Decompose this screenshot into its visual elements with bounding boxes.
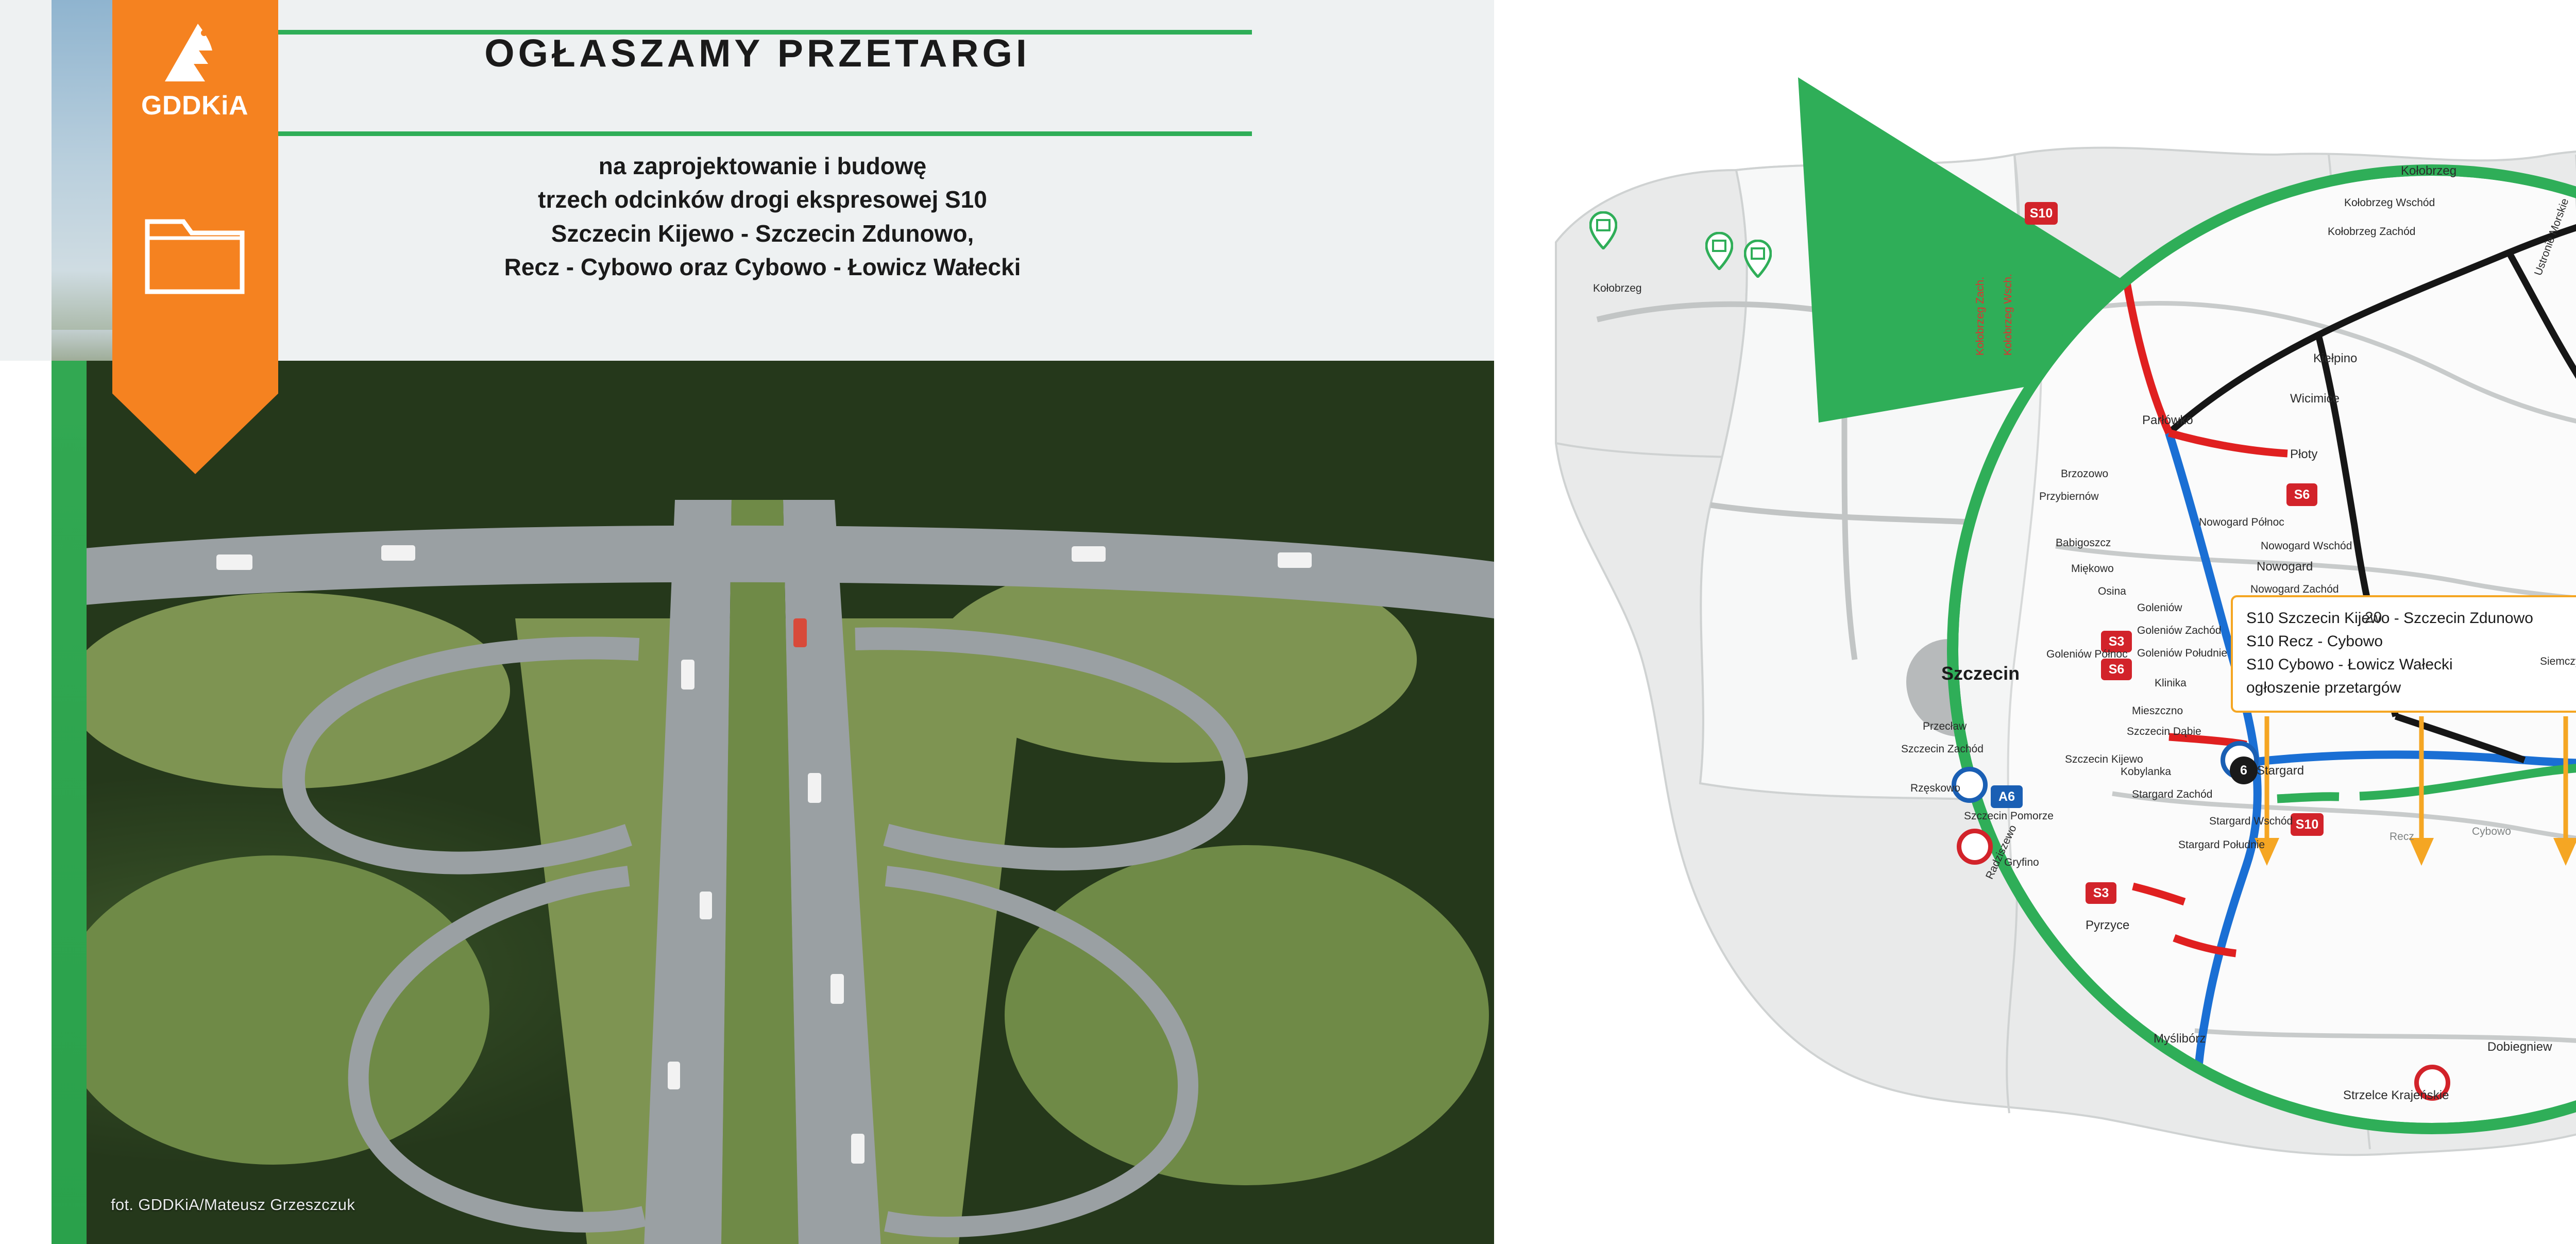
photo-credit: fot. GDDKiA/Mateusz Grzeszczuk (111, 1196, 355, 1214)
top-left-white (0, 0, 52, 361)
highway-interchange-photo (52, 330, 1494, 1244)
label-dobiegniew: Dobiegniew (2487, 1040, 2552, 1054)
gddkia-brand-text: GDDKiA (117, 90, 272, 121)
page-title: OGŁASZAMY PRZETARGI (216, 31, 1298, 75)
label-szczecin-dabie: Szczecin Dąbie (2127, 726, 2201, 738)
label-rzeskowo: Rzęskowo (1910, 782, 1960, 795)
label-przybiernow: Przybiernów (2039, 491, 2099, 503)
label-szczecin-zachod: Szczecin Zachód (1901, 743, 1984, 755)
callout-line-3: S10 Cybowo - Łowicz Wałecki (2246, 653, 2576, 676)
left-promo-panel: fot. GDDKiA/Mateusz Grzeszczuk OGŁASZAMY… (0, 0, 1494, 1244)
header-inner: OGŁASZAMY PRZETARGI (216, 31, 1298, 87)
header-subtitle: na zaprojektowanie i budowę trzech odcin… (216, 149, 1309, 284)
header-subtitle-line-1: na zaprojektowanie i budowę (216, 149, 1309, 183)
label-goleniow-poludnie: Goleniów Południe (2137, 647, 2227, 660)
label-kolobrzeg-zach: Kołobrzeg Zach. (1974, 277, 1987, 356)
road-shield-s6[interactable]: S6 (2286, 483, 2317, 506)
label-kolobrzeg-wschod: Kołobrzeg Wschód (2344, 197, 2435, 209)
label-stargard-zachod: Stargard Zachód (2132, 788, 2212, 801)
road-shield-s10[interactable]: S10 (2291, 813, 2324, 836)
header-rule-bottom (227, 131, 1252, 136)
road-shield-a6[interactable]: A6 (1991, 785, 2023, 808)
label-babigoszcz: Babigoszcz (2056, 537, 2111, 549)
label-pyrzyce: Pyrzyce (2086, 918, 2129, 933)
label-siemczyno: Siemczyno (2540, 655, 2576, 668)
label-mieszczno: Mieszczno (2132, 705, 2183, 717)
label-stargard-wschod: Stargard Wschód (2209, 815, 2293, 828)
label-cybowo: Cybowo (2472, 826, 2511, 838)
label-nowogard-zachod: Nowogard Zachód (2250, 583, 2339, 596)
header-subtitle-line-4: Recz - Cybowo oraz Cybowo - Łowicz Wałec… (216, 250, 1309, 284)
left-white-bar (0, 361, 52, 1244)
callout-box: S10 Szczecin Kijewo - Szczecin Zdunowo S… (2231, 595, 2576, 713)
callout-line-4: ogłoszenie przetargów (2246, 676, 2576, 699)
label-brzozowo: Brzozowo (2061, 468, 2108, 480)
label-kliniska: Klinika (2155, 677, 2187, 690)
label-kolobrzeg-zachod: Kołobrzeg Zachód (2328, 226, 2415, 238)
label-goleniow-polnoc: Goleniów Północ (2046, 648, 2128, 661)
label-nowogard: Nowogard (2257, 560, 2313, 574)
label-przeclaw: Przecław (1923, 720, 1967, 733)
left-green-bar (52, 361, 87, 1244)
callout-line-1: S10 Szczecin Kijewo - Szczecin Zdunowo (2246, 607, 2576, 630)
gddkia-eagle-icon (155, 21, 237, 90)
label-goleniow-zachod: Goleniów Zachód (2137, 625, 2221, 637)
callout-arrows (2205, 711, 2576, 886)
label-kolobrzeg-wsch: Kołobrzeg Wsch. (2002, 274, 2014, 356)
label-stargard-poludnie: Stargard Południe (2178, 839, 2265, 851)
map-panel[interactable]: S10 Szczecin Kijewo - Szczecin Zdunowo S… (1494, 0, 2576, 1244)
label-kolobrzeg-small: Kołobrzeg (1593, 282, 1642, 295)
road-shield-s6[interactable]: S6 (2101, 659, 2132, 680)
label-gryfino: Gryfino (2004, 856, 2039, 869)
label-kobylanka: Kobylanka (2121, 766, 2171, 778)
label-mysliborz: Myślibórz (2154, 1032, 2206, 1046)
junction-node[interactable] (1957, 829, 1993, 865)
map-pin-icon[interactable] (1744, 240, 1772, 278)
label-kolobrzeg: Kołobrzeg (2401, 164, 2456, 178)
label-szczecin: Szczecin (1941, 663, 2020, 684)
header-subtitle-line-2: trzech odcinków drogi ekspresowej S10 (216, 183, 1309, 216)
label-wicimice: Wicimice (2290, 392, 2340, 406)
road-shield-s3[interactable]: S3 (2086, 882, 2116, 904)
road-number-20: 20 (2365, 609, 2382, 627)
map-pin-icon[interactable] (1705, 232, 1733, 270)
road-shield-dk6[interactable]: 6 (2230, 757, 2258, 784)
label-recz: Recz (2389, 831, 2414, 843)
label-osina: Osina (2098, 585, 2126, 598)
label-strzelce-krajenskie: Strzelce Krajeńskie (2343, 1088, 2449, 1103)
folder-icon (143, 206, 246, 296)
map-pin-icon[interactable] (1589, 211, 1617, 249)
label-szczecin-pomorze: Szczecin Pomorze (1964, 810, 2054, 822)
label-parlowko: Parłówko (2142, 413, 2193, 428)
callout-line-2: S10 Recz - Cybowo (2246, 630, 2576, 653)
label-ploty: Płoty (2290, 447, 2317, 462)
label-miekowo: Miękowo (2071, 563, 2114, 575)
header-subtitle-line-3: Szczecin Kijewo - Szczecin Zdunowo, (216, 217, 1309, 250)
label-nowogard-polnoc: Nowogard Północ (2199, 516, 2284, 529)
label-szczecin-kijewo: Szczecin Kijewo (2065, 753, 2143, 766)
label-stargard: Stargard (2257, 764, 2304, 778)
label-nowogard-wschod: Nowogard Wschód (2261, 540, 2352, 552)
label-goleniow: Goleniów (2137, 602, 2182, 614)
label-kielpino: Kiełpino (2313, 351, 2357, 366)
road-shield-s10[interactable]: S10 (2025, 202, 2058, 225)
